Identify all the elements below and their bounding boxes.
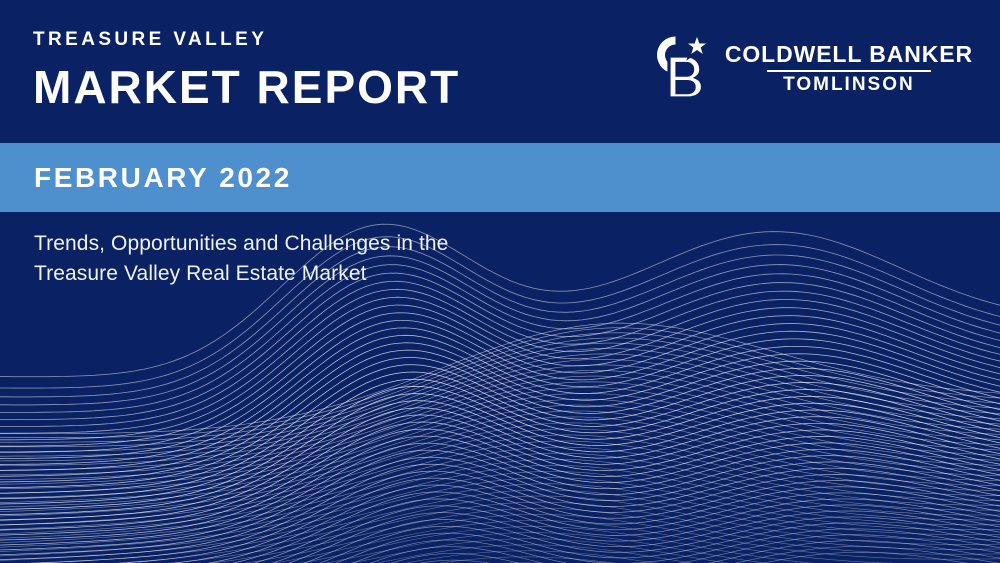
market-report-cover-slide: TREASURE VALLEY MARKET REPORT COLDWELL B… (0, 0, 1000, 563)
cb-star-monogram-icon (647, 30, 713, 104)
header-bar: TREASURE VALLEY MARKET REPORT COLDWELL B… (0, 0, 1000, 143)
brand-wordmark: COLDWELL BANKER TOMLINSON (725, 39, 973, 95)
brand-logo: COLDWELL BANKER TOMLINSON (647, 30, 973, 104)
subtitle: Trends, Opportunities and Challenges in … (34, 229, 448, 289)
report-date-label: FEBRUARY 2022 (34, 162, 292, 194)
subtitle-line-1: Trends, Opportunities and Challenges in … (34, 229, 448, 259)
brand-divider-rule (767, 70, 931, 72)
brand-name-primary: COLDWELL BANKER (725, 42, 973, 66)
eyebrow-region-label: TREASURE VALLEY (33, 30, 460, 49)
title-block: TREASURE VALLEY MARKET REPORT (33, 30, 460, 110)
brand-name-secondary: TOMLINSON (783, 75, 915, 95)
page-title: MARKET REPORT (33, 64, 460, 110)
subtitle-line-2: Treasure Valley Real Estate Market (34, 259, 448, 289)
date-band: FEBRUARY 2022 (0, 143, 1000, 212)
